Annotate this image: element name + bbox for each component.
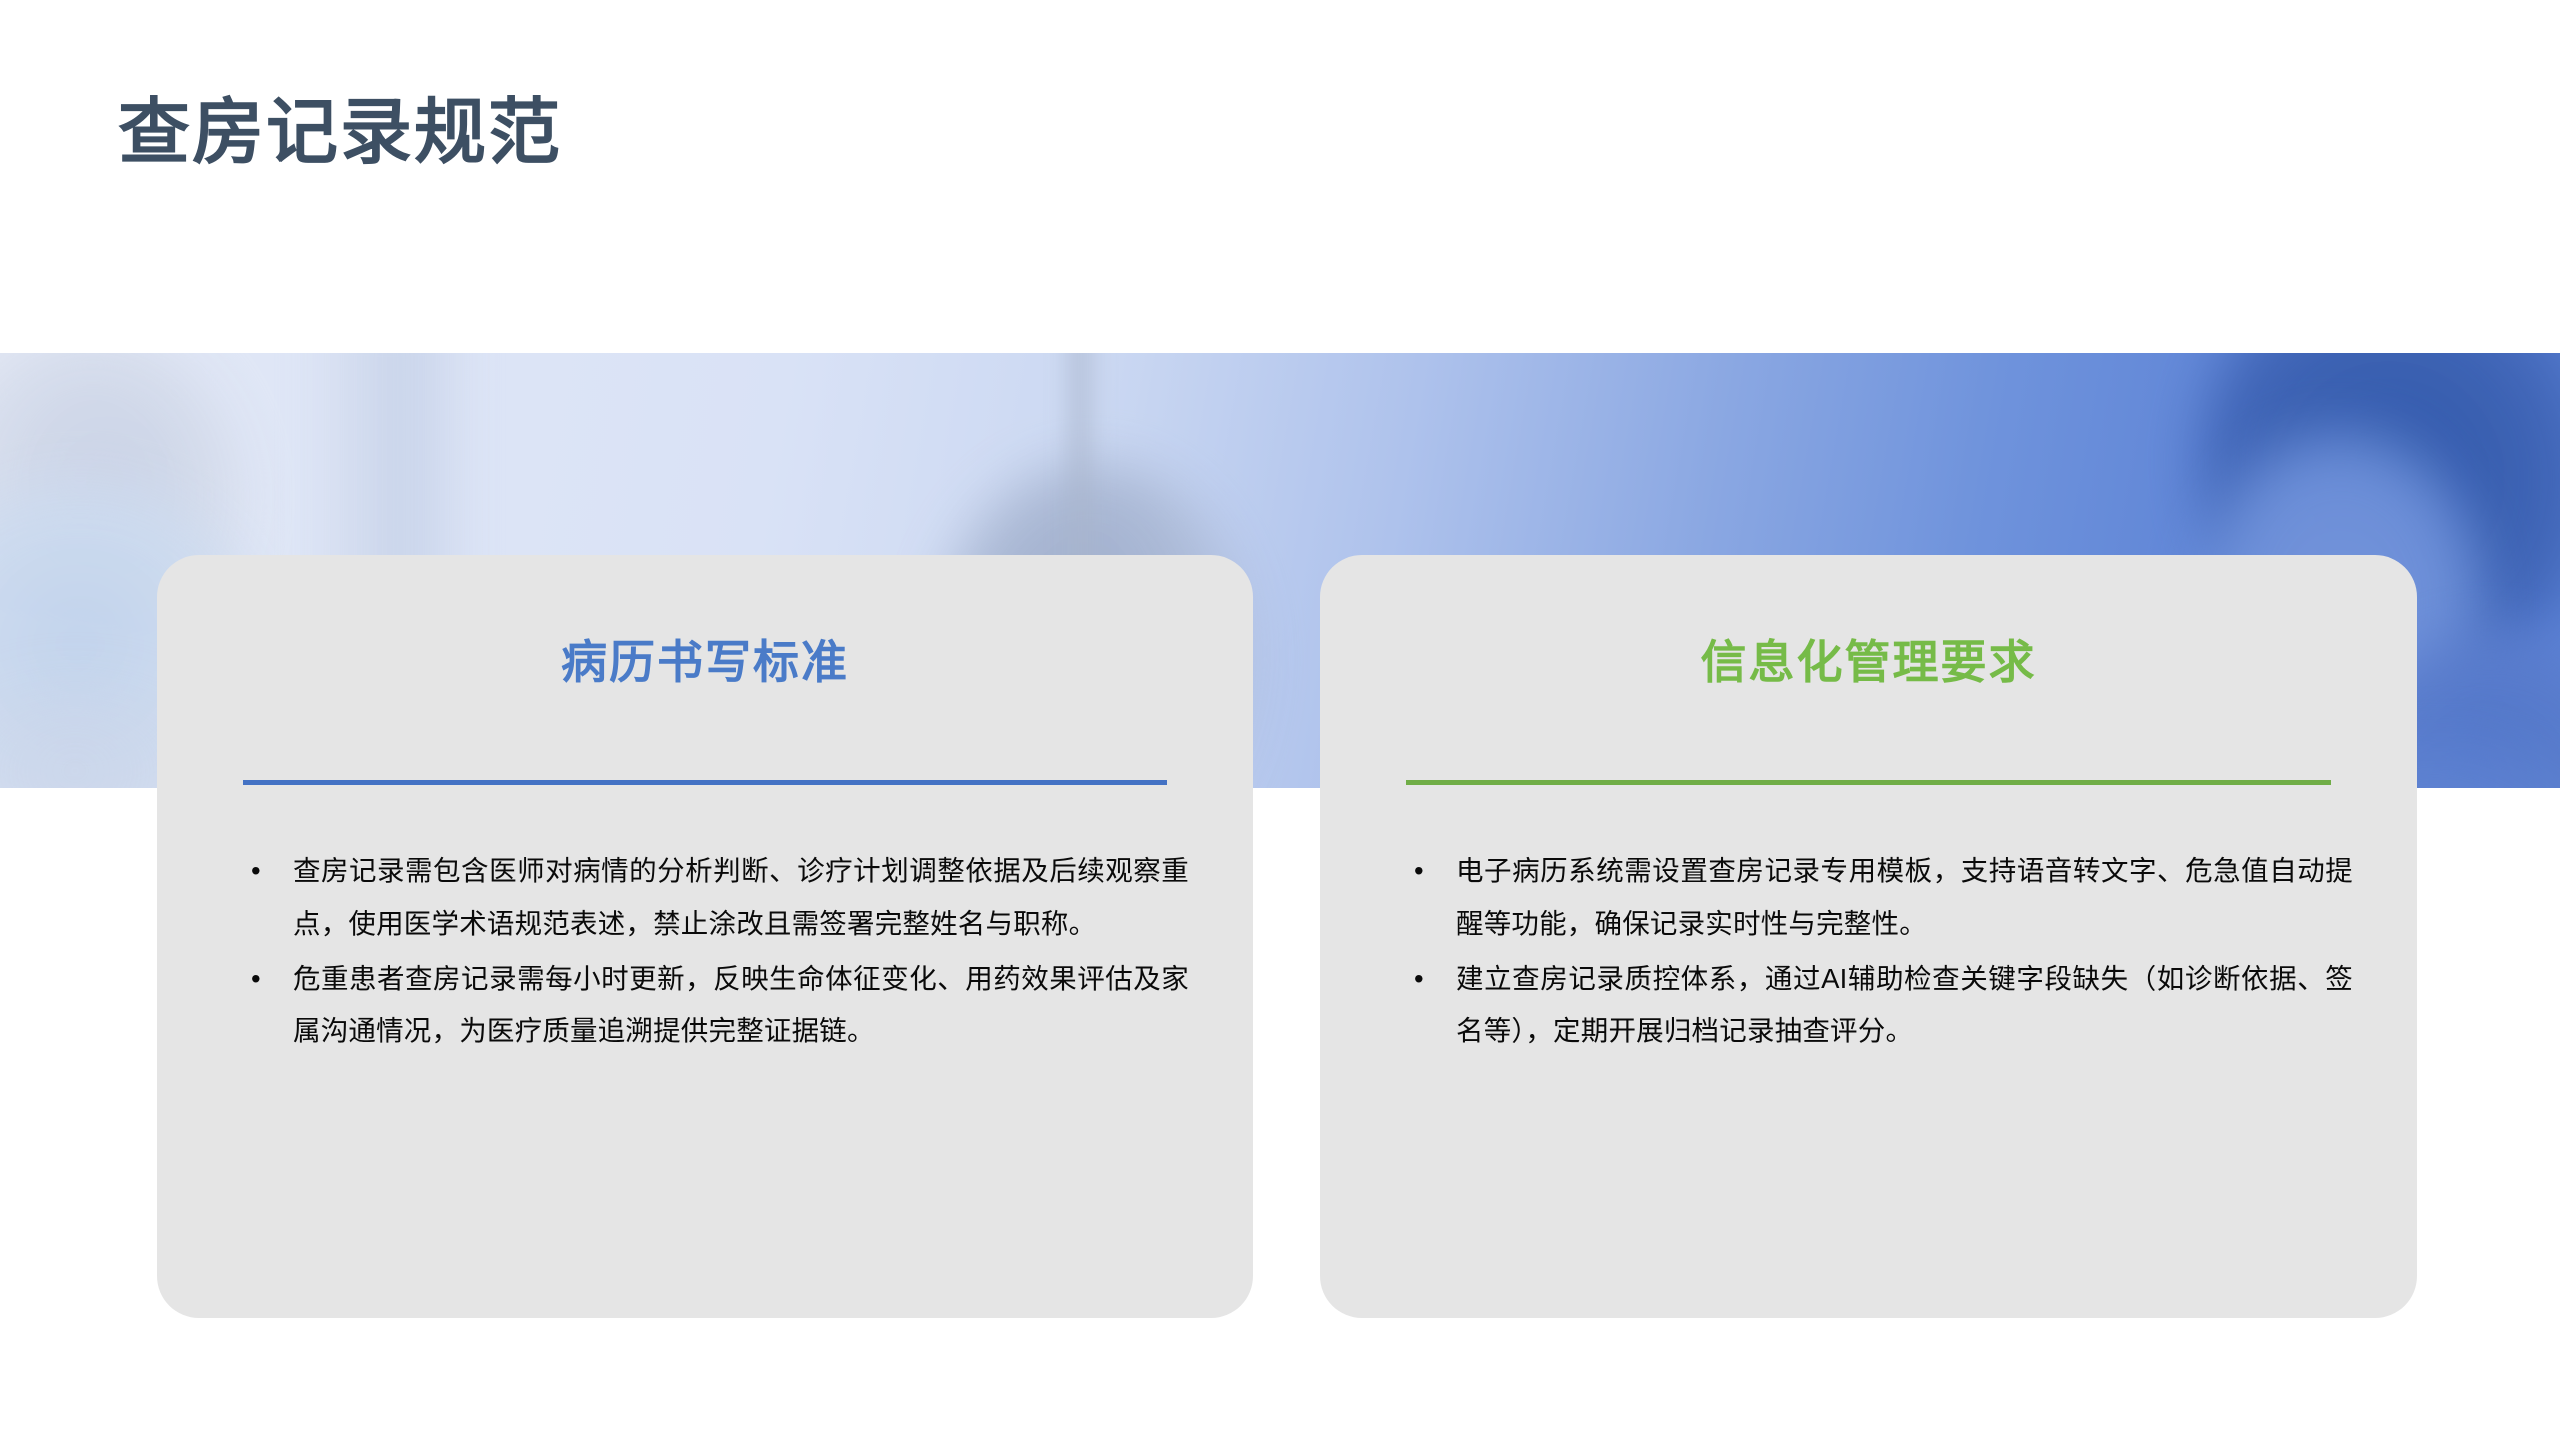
bullet-dot-icon: •	[251, 845, 261, 898]
list-item: • 建立查房记录质控体系，通过AI辅助检查关键字段缺失（如诊断依据、签名等），定…	[1406, 953, 2353, 1059]
card-divider-green	[1406, 780, 2331, 785]
list-item: • 电子病历系统需设置查房记录专用模板，支持语音转文字、危急值自动提醒等功能，确…	[1406, 845, 2353, 951]
card-body-medical-record-writing-standard: • 查房记录需包含医师对病情的分析判断、诊疗计划调整依据及后续观察重点，使用医学…	[243, 845, 1189, 1060]
card-medical-record-writing-standard: 病历书写标准 • 查房记录需包含医师对病情的分析判断、诊疗计划调整依据及后续观察…	[157, 555, 1253, 1318]
card-informatization-management-requirement: 信息化管理要求 • 电子病历系统需设置查房记录专用模板，支持语音转文字、危急值自…	[1320, 555, 2417, 1318]
list-item-text: 电子病历系统需设置查房记录专用模板，支持语音转文字、危急值自动提醒等功能，确保记…	[1456, 855, 2353, 939]
bullet-dot-icon: •	[251, 953, 261, 1006]
list-item-text: 危重患者查房记录需每小时更新，反映生命体征变化、用药效果评估及家属沟通情况，为医…	[293, 963, 1189, 1047]
list-item-text: 查房记录需包含医师对病情的分析判断、诊疗计划调整依据及后续观察重点，使用医学术语…	[293, 855, 1189, 939]
list-item: • 危重患者查房记录需每小时更新，反映生命体征变化、用药效果评估及家属沟通情况，…	[243, 953, 1189, 1059]
list-item: • 查房记录需包含医师对病情的分析判断、诊疗计划调整依据及后续观察重点，使用医学…	[243, 845, 1189, 951]
slide-canvas: 查房记录规范 病历书写标准 • 查房记录需包含医师对病情的分析判断、诊疗计划调整…	[0, 0, 2560, 1440]
card-divider-blue	[243, 780, 1167, 785]
bullet-dot-icon: •	[1414, 845, 1424, 898]
page-title: 查房记录规范	[118, 92, 562, 175]
card-body-informatization-management-requirement: • 电子病历系统需设置查房记录专用模板，支持语音转文字、危急值自动提醒等功能，确…	[1406, 845, 2353, 1060]
bullet-dot-icon: •	[1414, 953, 1424, 1006]
list-item-text: 建立查房记录质控体系，通过AI辅助检查关键字段缺失（如诊断依据、签名等），定期开…	[1456, 963, 2353, 1047]
card-title-informatization-management-requirement: 信息化管理要求	[1320, 635, 2417, 690]
card-title-medical-record-writing-standard: 病历书写标准	[157, 635, 1253, 690]
